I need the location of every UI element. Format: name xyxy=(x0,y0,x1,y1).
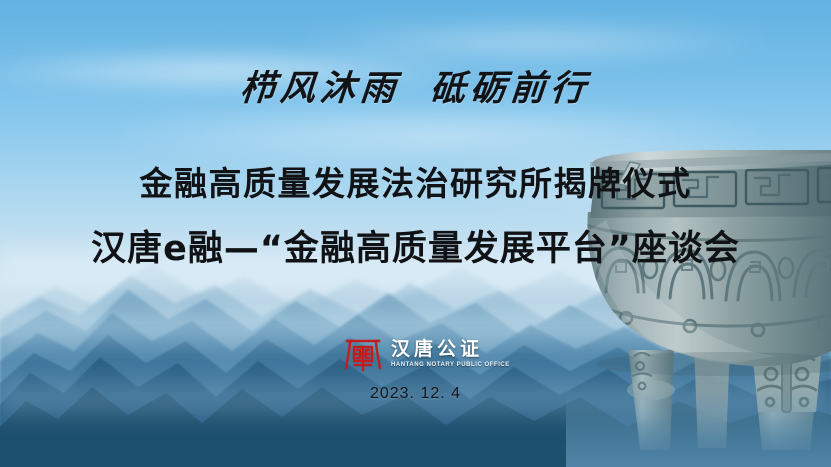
calligraphy-headline: 栉风沐雨砥砺前行 xyxy=(0,60,831,111)
calligraphy-phrase-right: 砥砺前行 xyxy=(428,68,592,109)
logo-wordmark: 汉唐公证 HANTANG NOTARY PUBLIC OFFICE xyxy=(391,340,510,368)
organization-logo: 汉唐公证 HANTANG NOTARY PUBLIC OFFICE xyxy=(344,336,510,372)
event-banner: 栉风沐雨砥砺前行 金融高质量发展法治研究所揭牌仪式 汉唐e融—“金融高质量发展平… xyxy=(0,0,831,467)
calligraphy-phrase-left: 栉风沐雨 xyxy=(238,68,402,109)
event-title-main: 金融高质量发展法治研究所揭牌仪式 xyxy=(0,157,831,205)
cloud-wisp xyxy=(300,22,770,62)
event-title-sub: 汉唐e融—“金融高质量发展平台”座谈会 xyxy=(0,220,831,271)
logo-name-en: HANTANG NOTARY PUBLIC OFFICE xyxy=(391,362,510,368)
hantang-seal-mark-icon xyxy=(344,336,382,372)
event-date: 2023. 12. 4 xyxy=(0,385,831,403)
logo-name-cn: 汉唐公证 xyxy=(391,340,510,359)
